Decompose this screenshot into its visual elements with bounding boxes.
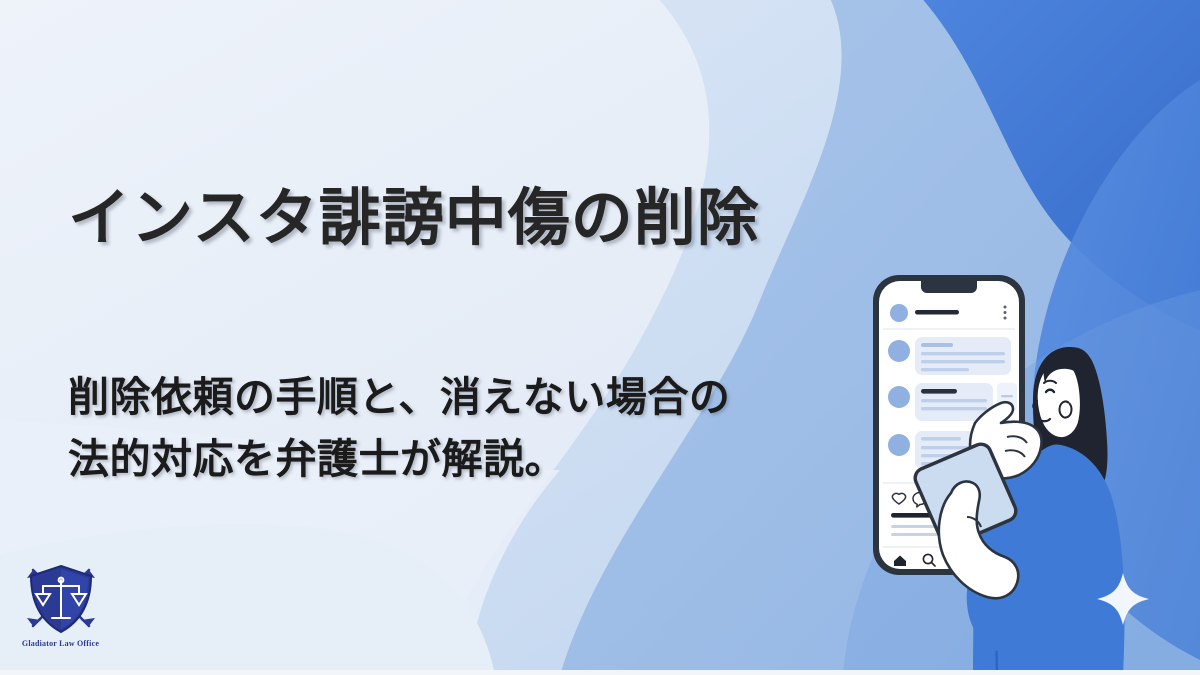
ear xyxy=(1060,401,1072,417)
woman-using-smartphone-illustration xyxy=(855,255,1200,675)
subtitle: 削除依頼の手順と、消えない場合の 法的対応を弁護士が解説。 xyxy=(68,366,730,491)
brand-logo[interactable]: Gladiator Law Office xyxy=(8,560,113,648)
comment-line xyxy=(921,352,1005,355)
comment-line xyxy=(921,360,1005,363)
face xyxy=(1037,363,1082,439)
banner-canvas: インスタ誹謗中傷の削除 削除依頼の手順と、消えない場合の 法的対応を弁護士が解説… xyxy=(0,0,1200,675)
comment-line xyxy=(921,343,953,347)
avatar-circle-icon xyxy=(888,386,910,408)
three-dots-vertical-icon[interactable] xyxy=(1004,306,1007,320)
shield-scales-swords-icon xyxy=(19,560,103,638)
bottom-edge-strip xyxy=(0,670,1200,675)
comment-line-bold xyxy=(921,389,957,394)
comment-line xyxy=(921,399,987,402)
phone-notch xyxy=(921,281,977,293)
page-title: インスタ誹謗中傷の削除 xyxy=(68,186,898,251)
comment-line xyxy=(921,368,969,371)
logo-text: Gladiator Law Office xyxy=(8,639,113,648)
subtitle-line-2: 法的対応を弁護士が解説。 xyxy=(68,428,730,490)
comment-thumbnail-line xyxy=(1001,395,1013,397)
headline-block: インスタ誹謗中傷の削除 削除依頼の手順と、消えない場合の 法的対応を弁護士が解説… xyxy=(68,186,898,251)
comment-line xyxy=(921,437,961,441)
subtitle-line-1: 削除依頼の手順と、消えない場合の xyxy=(68,366,730,428)
avatar-circle-icon xyxy=(888,340,910,362)
avatar-circle-icon xyxy=(890,304,908,322)
header-title-bar xyxy=(915,310,959,315)
avatar-circle-icon xyxy=(888,434,910,456)
comment-line xyxy=(921,407,987,410)
illustration-group xyxy=(855,255,1200,675)
